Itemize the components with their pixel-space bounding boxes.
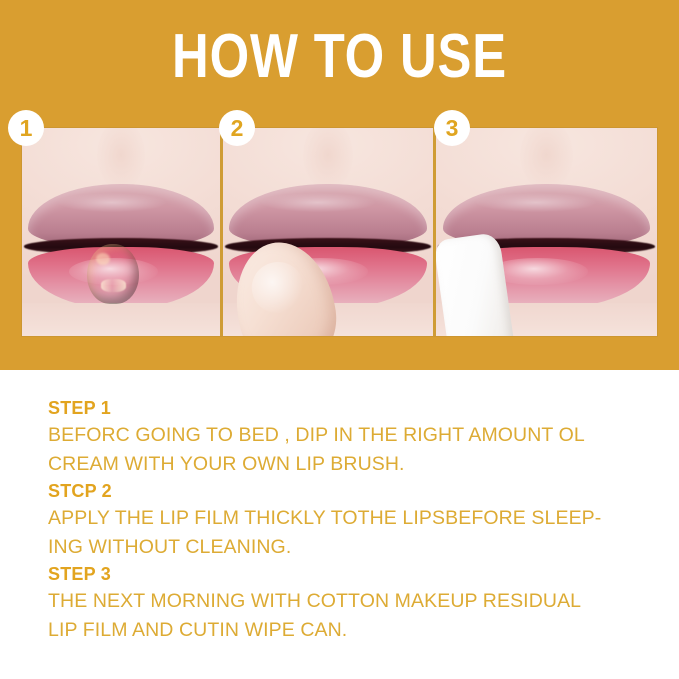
step-3-heading: STEP 3	[48, 562, 648, 587]
chin	[22, 303, 220, 336]
applicator-wand-bead-icon	[87, 244, 139, 304]
step-3-body: THE NEXT MORNING WITH COTTON MAKEUP RESI…	[48, 587, 648, 645]
steps-text-list: STEP 1 BEFORC GOING TO BED , DIP IN THE …	[48, 396, 648, 645]
step-badge-3: 3	[434, 110, 470, 146]
step-1-heading: STEP 1	[48, 396, 648, 421]
step-block-3: STEP 3 THE NEXT MORNING WITH COTTON MAKE…	[48, 562, 648, 645]
applicator-wand-handle	[109, 303, 118, 336]
step-2-body: APPLY THE LIP FILM THICKLY TOTHE LIPSBEF…	[48, 504, 648, 562]
how-to-use-infographic: HOW TO USE	[0, 0, 679, 679]
step-1-body: BEFORC GOING TO BED , DIP IN THE RIGHT A…	[48, 421, 648, 479]
steps-photo-strip	[22, 128, 657, 336]
step-photo-3	[436, 128, 657, 336]
step-badge-2: 2	[219, 110, 255, 146]
step-badge-1: 1	[8, 110, 44, 146]
step-2-heading: STCP 2	[48, 479, 648, 504]
page-title: HOW TO USE	[61, 24, 618, 90]
step-block-1: STEP 1 BEFORC GOING TO BED , DIP IN THE …	[48, 396, 648, 479]
step-photo-1	[22, 128, 220, 336]
step-block-2: STCP 2 APPLY THE LIP FILM THICKLY TOTHE …	[48, 479, 648, 562]
step-photo-2	[223, 128, 433, 336]
